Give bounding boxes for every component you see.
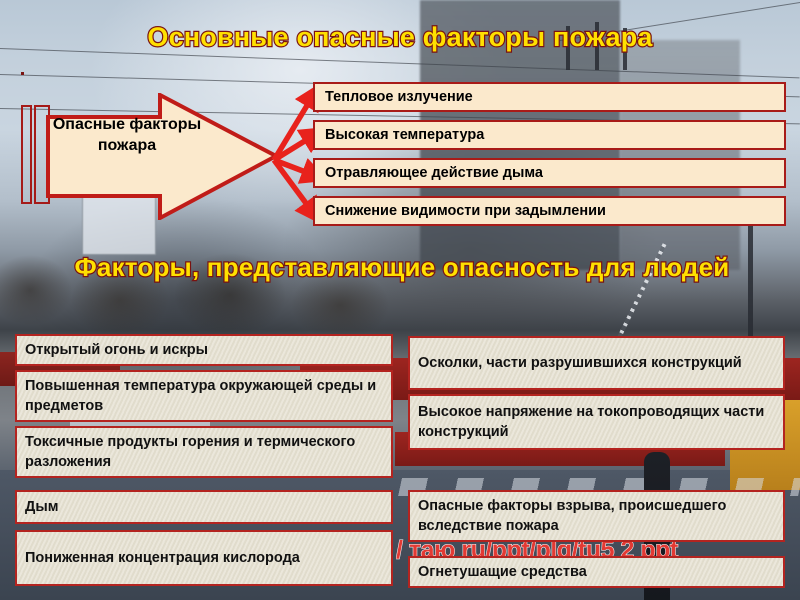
hazard-box-low-oxygen[interactable]: Пониженная концентрация кислорода	[15, 530, 393, 586]
page-title: Основные опасные факторы пожара	[0, 21, 800, 53]
factor-box-label: Высокая температура	[325, 126, 484, 144]
hazard-box-label: Открытый огонь и искры	[25, 340, 208, 360]
hazard-box-label: Осколки, части разрушившихся конструкций	[418, 353, 742, 373]
factor-box-toxic-smoke[interactable]: Отравляющее действие дыма	[313, 158, 786, 188]
hazard-box-high-voltage[interactable]: Высокое напряжение на токопроводящих час…	[408, 394, 785, 450]
hazard-box-label: Пониженная концентрация кислорода	[25, 548, 300, 568]
hazard-box-smoke[interactable]: Дым	[15, 490, 393, 524]
section-title: Факторы, представляющие опасность для лю…	[62, 251, 742, 283]
background-trees	[0, 230, 420, 350]
pentagon-arrow-shape	[46, 93, 278, 220]
hazard-box-debris[interactable]: Осколки, части разрушившихся конструкций	[408, 336, 785, 390]
hazard-box-explosion-factors[interactable]: Опасные факторы взрыва, происшедшего всл…	[408, 490, 785, 542]
hazard-box-open-flame[interactable]: Открытый огонь и искры	[15, 334, 393, 366]
slide-canvas: Основные опасные факторы пожара Опасные …	[0, 0, 800, 600]
hazard-box-toxic-products[interactable]: Токсичные продукты горения и термическог…	[15, 426, 393, 478]
decorative-bar-outer	[21, 105, 32, 204]
hazard-box-label: Высокое напряжение на токопроводящих час…	[418, 402, 775, 442]
hazard-box-label: Токсичные продукты горения и термическог…	[25, 432, 383, 472]
hazard-box-label: Повышенная температура окружающей среды …	[25, 376, 383, 416]
factor-box-label: Отравляющее действие дыма	[325, 164, 543, 182]
factor-box-label: Тепловое излучение	[325, 88, 473, 106]
factor-box-reduced-visibility[interactable]: Снижение видимости при задымлении	[313, 196, 786, 226]
pentagon-arrow-label: Опасные факторы пожара	[52, 114, 202, 156]
stray-dot-mark	[21, 72, 24, 75]
factor-box-label: Снижение видимости при задымлении	[325, 202, 606, 220]
hazard-box-elevated-temperature[interactable]: Повышенная температура окружающей среды …	[15, 370, 393, 422]
factor-box-thermal-radiation[interactable]: Тепловое излучение	[313, 82, 786, 112]
hazard-box-extinguishing-agents[interactable]: Огнетушащие средства	[408, 556, 785, 588]
hazard-box-label: Опасные факторы взрыва, происшедшего всл…	[418, 496, 775, 536]
hazard-box-label: Дым	[25, 497, 58, 517]
hazard-box-label: Огнетушащие средства	[418, 562, 587, 582]
factor-box-high-temperature[interactable]: Высокая температура	[313, 120, 786, 150]
